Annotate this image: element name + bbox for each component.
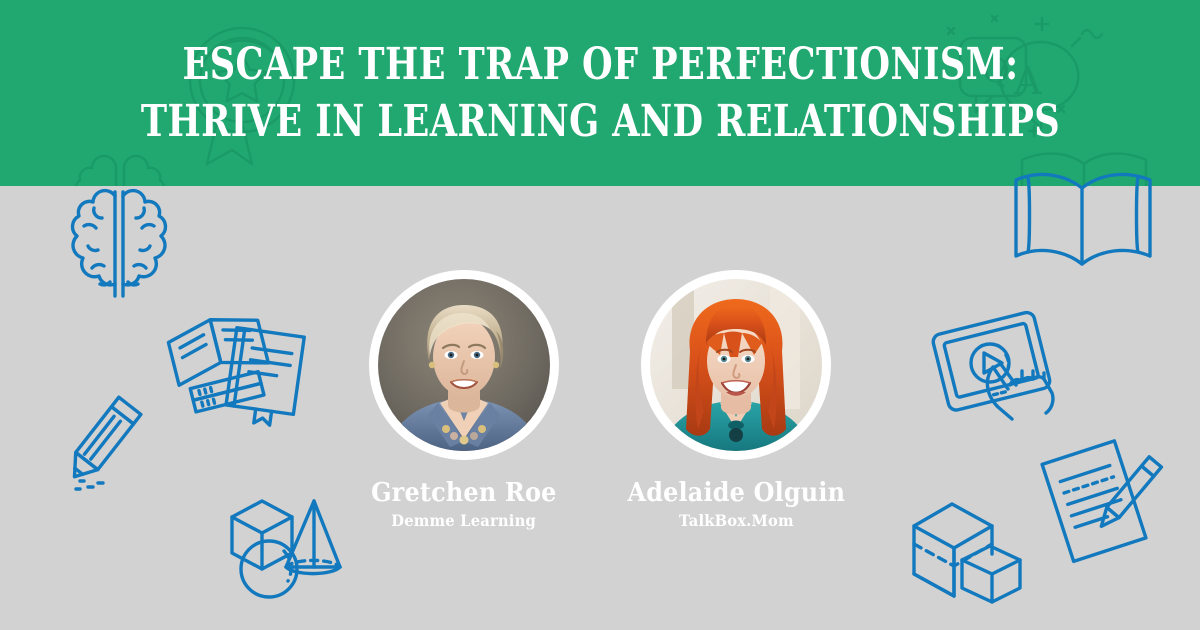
avatar (369, 270, 559, 460)
speakers-row: Gretchen Roe Demme Learning (0, 270, 1200, 531)
webinar-promo-banner: Q A (0, 0, 1200, 630)
speaker-name: Adelaide Olguin (627, 478, 845, 508)
avatar (641, 270, 831, 460)
header-band: Q A (0, 0, 1200, 186)
headshot-adelaide-olguin (650, 279, 822, 451)
speaker-organization: Demme Learning (392, 510, 537, 531)
speaker-card: Gretchen Roe Demme Learning (366, 270, 562, 531)
page-title: ESCAPE THE TRAP OF PERFECTIONISM: THRIVE… (0, 0, 1200, 186)
speaker-card: Adelaide Olguin TalkBox.Mom (638, 270, 834, 531)
title-line-2: THRIVE IN LEARNING AND RELATIONSHIPS (140, 93, 1059, 150)
title-line-1: ESCAPE THE TRAP OF PERFECTIONISM: (182, 36, 1018, 93)
headshot-gretchen-roe (378, 279, 550, 451)
speaker-name: Gretchen Roe (371, 478, 556, 508)
speaker-organization: TalkBox.Mom (679, 510, 794, 531)
